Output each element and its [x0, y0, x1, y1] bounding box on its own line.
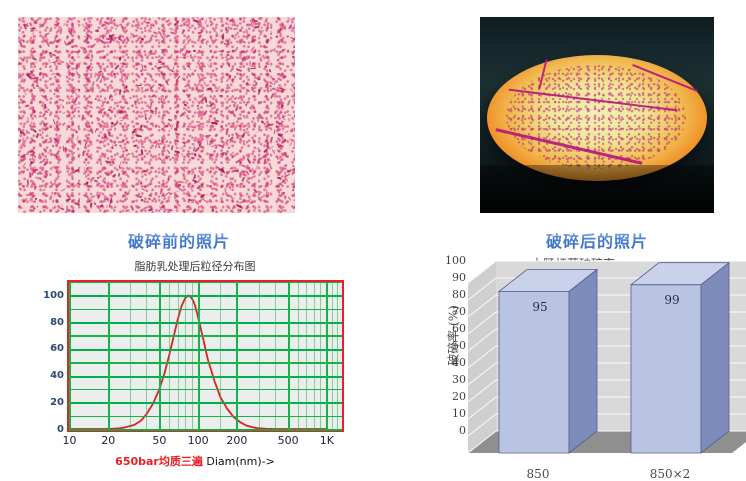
bacterium-rod	[263, 148, 268, 153]
bacterium-rod	[145, 89, 149, 92]
bacterium-rod	[207, 63, 210, 68]
bacterium-rod	[226, 24, 229, 27]
y-tick-label-particle: 40	[36, 370, 64, 381]
bacterium-rod	[269, 163, 272, 168]
bacterium-rod	[136, 55, 141, 57]
bacterium-rod	[267, 59, 271, 63]
bacterium-rod	[196, 187, 199, 189]
bacterium-rod	[47, 108, 50, 111]
bacterium-rod	[215, 31, 219, 37]
bacterium-rod	[60, 28, 63, 34]
bacterium-rod	[285, 201, 288, 204]
bacterium-rod	[89, 203, 92, 208]
bacterium-rod	[56, 22, 60, 26]
bacterium-rod	[277, 176, 282, 179]
bacterium-rod	[94, 179, 98, 182]
bacterium-rod	[146, 54, 152, 59]
gridline-vertical-minor	[332, 282, 333, 430]
bacterium-rod	[89, 25, 91, 28]
bacterium-rod	[277, 59, 279, 61]
bacterium-rod	[196, 59, 201, 66]
gridline-vertical	[108, 282, 110, 430]
bacterium-rod	[192, 208, 196, 213]
bacterium-rod	[104, 172, 111, 177]
bacterium-rod	[52, 53, 56, 56]
bacterium-rod	[292, 55, 295, 58]
bacterium-rod	[68, 17, 72, 20]
x-tick-label-particle: 10	[63, 434, 77, 447]
bacterium-rod	[89, 105, 93, 108]
bacterium-rod	[43, 205, 46, 209]
bacterium-rod	[68, 115, 71, 118]
bacterium-rod	[161, 205, 165, 208]
bacterium-rod	[283, 75, 287, 79]
bacterium-rod	[239, 77, 243, 80]
bacterium-rod	[29, 198, 35, 202]
bacterium-rod	[75, 44, 78, 47]
bacterium-rod	[176, 121, 180, 127]
gridline-vertical-minor	[169, 282, 170, 430]
bacterium-rod	[112, 146, 114, 149]
bacterium-rod	[245, 33, 251, 37]
bacterium-rod	[58, 195, 61, 198]
bacterium-rod	[281, 137, 284, 141]
y-tick-label-bars: 20	[436, 390, 466, 403]
y-axis-particle: 020406080100	[30, 280, 64, 432]
bacterium-rod	[211, 144, 217, 148]
bacterium-rod	[164, 33, 167, 38]
bacterium-rod	[66, 164, 69, 167]
bacterium-rod	[287, 99, 291, 105]
bacterium-rod	[169, 192, 172, 195]
bacterium-rod	[129, 205, 134, 212]
bacterium-rod	[291, 63, 294, 68]
bacterium-rod	[116, 110, 119, 115]
bacterium-rod	[217, 86, 221, 92]
bacterium-rod	[173, 57, 176, 60]
bacterium-rod	[33, 208, 36, 211]
bacterium-rod	[197, 135, 203, 141]
bacterium-rod	[209, 154, 213, 157]
x-axis-title-condition: 650bar均质三遍	[115, 455, 203, 468]
bacterium-rod	[280, 29, 282, 32]
bacterium-rod	[19, 139, 22, 142]
bacterium-rod	[199, 79, 204, 82]
bacterium-rod	[230, 197, 234, 199]
bacterium-rod	[145, 116, 148, 120]
bacterium-rod	[106, 85, 110, 87]
bacterium-rod	[236, 69, 242, 72]
gridline-vertical	[159, 282, 161, 430]
bacterium-rod	[33, 29, 38, 31]
bacterium-rod	[43, 148, 48, 152]
bacterium-rod	[215, 119, 218, 122]
bacterium-rod	[101, 34, 104, 38]
bacterium-rod	[232, 50, 235, 53]
bacterium-rod	[200, 67, 203, 73]
bacterium-rod	[225, 27, 227, 31]
gridline-horizontal	[69, 376, 342, 378]
bacterium-rod	[112, 180, 115, 183]
bacterium-rod	[231, 204, 234, 209]
bacterium-rod	[241, 51, 244, 54]
bacterium-rod	[175, 127, 177, 130]
bacterium-rod	[197, 31, 202, 34]
bacterium-rod	[53, 192, 56, 194]
bacterium-rod	[137, 196, 142, 199]
bacterium-rod	[129, 97, 132, 99]
bacterium-rod	[175, 27, 179, 32]
bacterium-rod	[70, 28, 72, 33]
bacterium-rod	[234, 98, 238, 101]
y-tick-label-bars: 80	[436, 288, 466, 301]
x-tick-label-particle: 500	[278, 434, 299, 447]
gridline-horizontal	[69, 389, 342, 390]
bacterium-rod	[255, 129, 261, 134]
gridline-vertical-minor	[185, 282, 186, 430]
bacterium-rod	[93, 203, 96, 206]
bacterium-rod	[153, 24, 155, 26]
bacterium-rod	[72, 209, 75, 212]
bacterium-rod	[94, 72, 97, 77]
bacterium-rod	[49, 161, 52, 164]
bacterium-rod	[215, 109, 218, 112]
bacterium-rod	[241, 176, 245, 181]
bacterium-rod	[244, 125, 248, 128]
bacterium-rod	[34, 176, 40, 179]
bacterium-rod	[239, 200, 244, 204]
x-tick-label-particle: 1K	[320, 434, 334, 447]
bacterium-rod	[144, 83, 149, 86]
bacterium-rod	[150, 109, 155, 113]
bacterium-rod	[32, 114, 36, 118]
bacterium-rod	[141, 199, 143, 201]
bacterium-rod	[31, 40, 35, 43]
bacterium-rod	[94, 127, 97, 133]
gridline-horizontal	[69, 416, 342, 417]
bacterium-rod	[195, 65, 197, 68]
bacterium-rod	[228, 40, 230, 45]
bacterium-rod	[148, 31, 152, 33]
bacterium-rod	[228, 109, 233, 114]
bacterium-rod	[164, 89, 166, 92]
gridline-horizontal	[69, 349, 342, 351]
bacterium-rod	[273, 92, 277, 98]
bacterium-rod	[227, 54, 230, 56]
gridline-vertical-minor	[146, 282, 147, 430]
bacterium-rod	[146, 189, 148, 192]
gridline-vertical	[326, 282, 328, 430]
bacterium-rod	[67, 120, 70, 123]
x-tick-label-particle: 20	[101, 434, 115, 447]
bacterium-rod	[56, 99, 62, 101]
bacterium-rod	[237, 35, 239, 39]
bacterium-rod	[224, 98, 227, 101]
bacterium-rod	[206, 125, 208, 127]
bacterium-rod	[70, 45, 73, 47]
bacterium-rod	[127, 167, 131, 171]
bacterium-rod	[152, 31, 157, 34]
bacterium-rod	[45, 17, 49, 20]
bacterium-rod	[52, 82, 55, 85]
bacterium-rod	[194, 174, 196, 178]
gridline-vertical-minor	[259, 282, 260, 430]
bacterium-rod	[109, 164, 113, 167]
bacterium-rod	[160, 56, 164, 60]
bacterium-rod	[245, 206, 250, 210]
bacterium-rod	[182, 171, 185, 176]
bacterium-rod	[125, 149, 128, 151]
bacterium-rod	[135, 64, 138, 66]
bacterium-rod	[65, 199, 70, 202]
chart-disruption-rate: 大肠杆菌破碎率 破碎率 (%) 0102030405060708090100 8…	[400, 255, 746, 480]
bacterium-rod	[177, 104, 179, 109]
bacterium-rod	[162, 72, 165, 75]
gridline-vertical-minor	[298, 282, 299, 430]
bacterium-rod	[71, 167, 75, 171]
bacterium-rod	[288, 118, 291, 123]
bacterium-rod	[134, 101, 137, 106]
bacterium-rod	[77, 72, 81, 76]
bacterium-rod	[226, 131, 228, 135]
bacterium-rod	[98, 64, 102, 70]
bacterium-rod	[194, 89, 196, 91]
bacterium-rod	[158, 75, 161, 78]
bacterium-rod	[78, 61, 82, 66]
bacterium-rod	[31, 121, 34, 125]
bacterium-rod	[168, 118, 172, 120]
bacterium-rod	[180, 25, 183, 27]
bacterium-rod	[257, 157, 260, 163]
bacterium-rod	[231, 78, 235, 81]
bacterium-rod	[180, 56, 183, 58]
bacterium-rod	[190, 186, 194, 192]
bacterium-rod	[270, 27, 273, 30]
bacterium-rod	[184, 104, 187, 107]
bacterium-rod	[44, 127, 49, 132]
bacterium-rod	[33, 129, 37, 133]
bacterium-rod	[117, 173, 120, 178]
x-tick-label-bars: 850	[527, 467, 550, 481]
gridline-vertical	[69, 282, 71, 430]
bacterium-rod	[24, 92, 27, 95]
bacterium-rod	[236, 184, 238, 186]
bacterium-rod	[52, 119, 55, 125]
bacterium-rod	[168, 129, 171, 131]
bar-front-850	[499, 292, 569, 454]
bacterium-rod	[173, 93, 177, 99]
bacterium-rod	[216, 185, 218, 187]
bacterium-rod	[260, 195, 266, 200]
bacterium-rod	[167, 208, 173, 210]
bacterium-rod	[19, 56, 25, 61]
bacterium-rod	[92, 87, 95, 93]
bacterium-rod	[43, 122, 47, 125]
bacterium-rod	[176, 202, 181, 207]
bacterium-rod	[52, 60, 58, 63]
bacterium-rod	[86, 181, 89, 184]
bacterium-rod	[53, 183, 59, 188]
bacterium-rod	[102, 185, 106, 191]
bacterium-rod	[21, 78, 25, 82]
bacterium-rod	[217, 17, 223, 20]
bacterium-rod	[63, 24, 67, 27]
bacterium-rod	[265, 65, 267, 68]
bacterium-rod	[292, 165, 295, 168]
bacterium-rod	[128, 152, 131, 155]
y-tick-label-particle: 100	[36, 290, 64, 301]
distribution-curve	[69, 282, 341, 429]
bacterium-rod	[289, 141, 293, 147]
bacterium-rod	[133, 144, 137, 147]
bacterium-rod	[179, 98, 181, 100]
gridline-vertical-minor	[130, 282, 131, 430]
y-tick-label-bars: 100	[436, 254, 466, 267]
bacterium-rod	[166, 149, 170, 153]
bacterium-rod	[99, 159, 102, 165]
bacterium-rod	[137, 85, 141, 87]
gridline-vertical-minor	[192, 282, 193, 430]
bacterium-rod	[19, 188, 22, 191]
bacterium-rod	[148, 198, 152, 201]
bacterium-rod	[167, 19, 170, 23]
bacterium-rod	[58, 155, 61, 162]
bacterium-rod	[99, 204, 104, 208]
bar-side-850×2	[701, 263, 729, 453]
bacterium-rod	[187, 79, 190, 82]
bacterium-rod	[261, 26, 264, 30]
bacterium-rod	[229, 104, 231, 107]
bacterium-rod	[208, 88, 212, 90]
bacterium-rod	[284, 165, 287, 167]
bacterium-rod	[39, 25, 43, 28]
bacterium-rod	[93, 38, 99, 41]
bacterium-rod	[186, 190, 190, 195]
bacterium-rod	[171, 145, 174, 150]
bacterium-rod	[101, 77, 102, 82]
bacterium-rod	[123, 116, 130, 120]
bacterium-rod	[153, 197, 157, 201]
bacterium-rod	[159, 84, 162, 87]
x-tick-label-particle: 100	[188, 434, 209, 447]
bacterium-rod	[44, 103, 46, 107]
bacterium-rod	[161, 49, 167, 51]
bacterium-rod	[108, 93, 111, 99]
bacterium-rod	[60, 204, 62, 207]
bacterium-rod	[159, 158, 163, 162]
bacterium-rod	[175, 132, 180, 136]
bacterium-rod	[173, 158, 177, 161]
bacterium-rod	[243, 199, 248, 203]
bacterium-rod	[243, 132, 249, 135]
photo-before-disruption	[18, 17, 295, 213]
bacterium-rod	[164, 96, 167, 99]
bacterium-rod	[77, 148, 79, 151]
bacterium-rod	[120, 146, 124, 150]
bacterium-rod	[103, 56, 105, 58]
bacterium-rod	[225, 90, 230, 93]
bacterium-rod	[114, 122, 118, 126]
bacterium-rod	[119, 56, 121, 60]
bacterium-rod	[268, 123, 274, 126]
bacterium-rod	[139, 125, 142, 131]
bacterium-rod	[127, 37, 130, 41]
bacterium-rod	[98, 195, 101, 199]
bacterium-rod	[138, 116, 142, 118]
bacterium-rod	[174, 22, 179, 26]
bacterium-rod	[192, 179, 198, 183]
bacterium-rod	[119, 184, 124, 187]
bacterium-rod	[20, 145, 23, 149]
bacterium-rod	[175, 35, 177, 41]
bacterium-rod	[108, 108, 111, 110]
bacterium-rod	[222, 33, 224, 40]
bacterium-rod	[237, 117, 239, 120]
bacterium-rod	[155, 107, 158, 110]
bacterium-rod	[85, 163, 88, 166]
bacterium-rod	[55, 126, 58, 131]
bacterium-rod	[162, 114, 166, 118]
bacterium-rod	[179, 188, 184, 192]
bacterium-rod	[107, 181, 110, 185]
bacterium-rod	[249, 169, 252, 172]
bacterium-rod	[121, 172, 124, 175]
bacterium-rod	[214, 73, 216, 76]
bacterium-rod	[180, 153, 183, 158]
gridline-horizontal	[69, 402, 342, 404]
bacterium-rod	[233, 113, 235, 116]
bacterium-rod	[205, 134, 211, 137]
bacterium-rod	[182, 29, 186, 34]
bacterium-rod	[193, 50, 197, 52]
bacterium-rod	[206, 139, 208, 146]
gridline-horizontal	[69, 429, 342, 431]
bacterium-rod	[67, 195, 70, 198]
bacterium-rod	[199, 146, 204, 148]
bacterium-rod	[123, 197, 126, 203]
bacterium-rod	[190, 125, 196, 128]
y-tick-label-bars: 60	[436, 322, 466, 335]
bacterium-rod	[274, 47, 276, 52]
bacterium-rod	[249, 201, 254, 204]
bacterium-rod	[32, 31, 34, 37]
bacterium-rod	[181, 166, 186, 171]
bacterium-rod	[52, 207, 55, 209]
gridline-vertical-minor	[314, 282, 315, 430]
bacterium-rod	[262, 154, 267, 159]
bacterium-rod	[146, 110, 149, 112]
bacterium-rod	[175, 151, 180, 154]
bacterium-rod	[42, 131, 44, 134]
bacterium-rod	[99, 107, 105, 112]
bacterium-rod	[237, 96, 244, 100]
bacterium-rod	[53, 93, 56, 96]
bacterium-rod	[91, 122, 93, 124]
bacterium-rod	[62, 106, 64, 109]
bacterium-rod	[218, 50, 224, 52]
bacterium-rod	[108, 22, 114, 25]
bacterium-rod	[244, 116, 250, 119]
bacterium-rod	[85, 97, 90, 99]
bacterium-rod	[228, 63, 231, 67]
bacterium-rod	[46, 41, 50, 47]
bacterium-rod	[204, 19, 207, 25]
bacterium-rod	[171, 72, 177, 74]
bacterium-rod	[36, 205, 37, 207]
bacterium-rod	[36, 133, 39, 138]
bacterium-rod	[294, 66, 295, 72]
bacterium-rod	[140, 182, 143, 185]
